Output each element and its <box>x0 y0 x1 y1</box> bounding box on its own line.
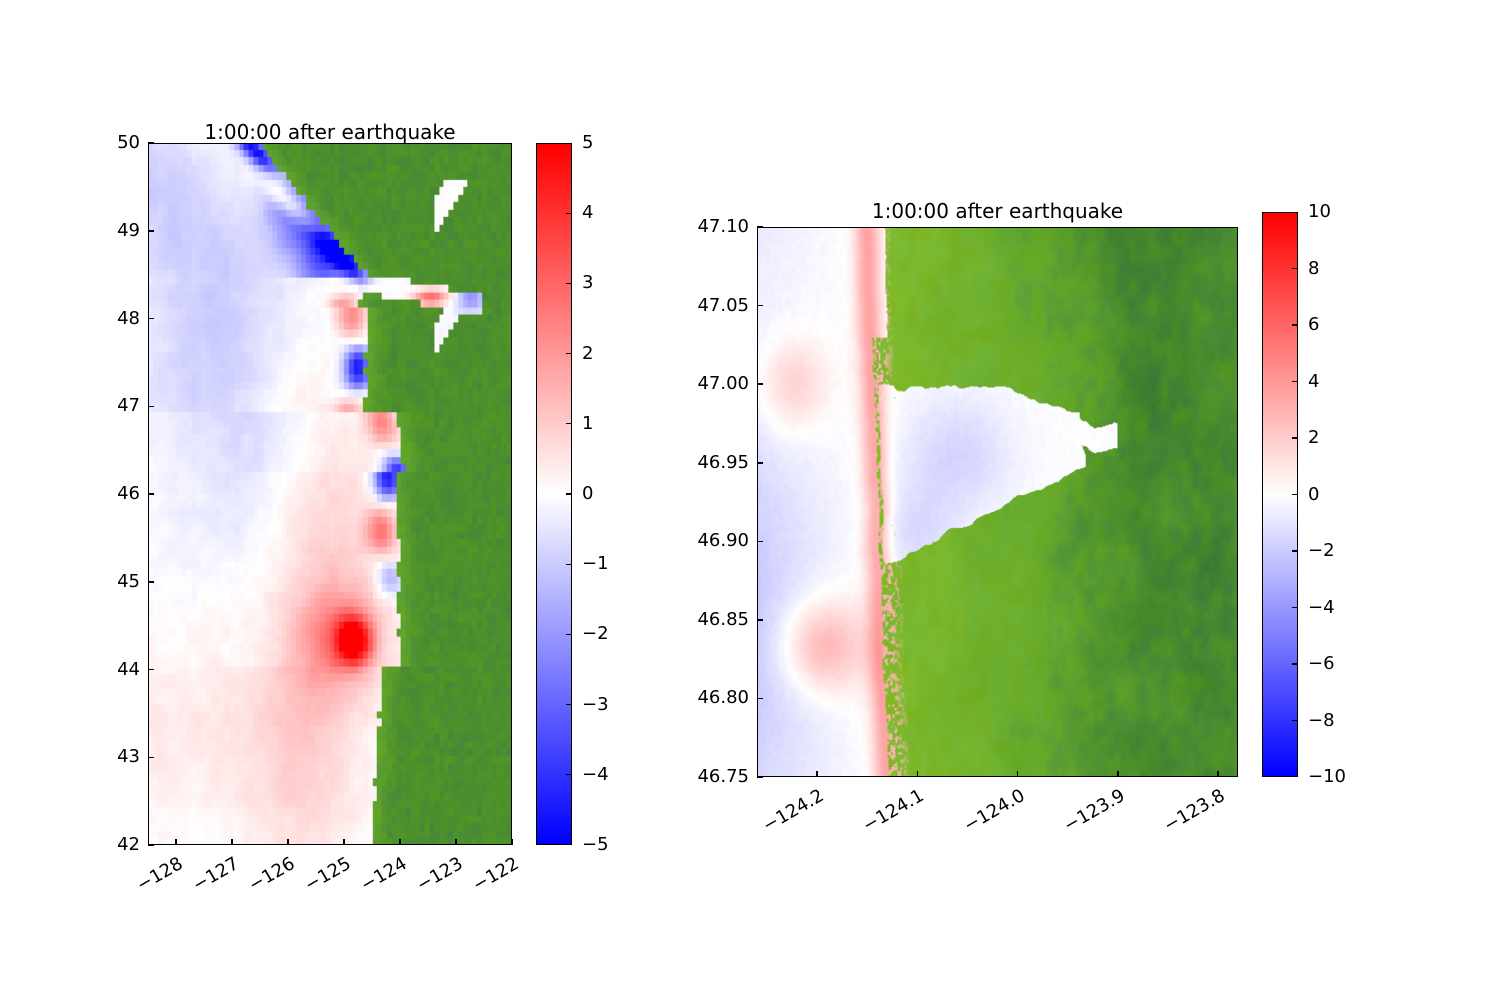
y-tick-mark <box>757 776 763 778</box>
x-tick-label: −123.9 <box>1043 785 1128 846</box>
y-tick-mark <box>148 142 154 144</box>
y-tick-mark <box>148 493 154 495</box>
y-tick-label: 46.75 <box>669 766 749 787</box>
colorbar-tick-mark <box>1292 663 1298 664</box>
colorbar-tick-mark <box>566 564 572 565</box>
colorbar-tick-mark <box>1292 494 1298 495</box>
y-tick-label: 45 <box>60 571 140 592</box>
y-tick-mark <box>757 383 763 385</box>
x-tick-mark <box>231 839 233 845</box>
regional-tsunami-heatmap <box>149 144 511 844</box>
y-tick-label: 47.05 <box>669 295 749 316</box>
x-tick-mark <box>175 839 177 845</box>
x-tick-mark <box>1117 771 1119 777</box>
colorbar-tick-label: 0 <box>582 483 593 504</box>
y-tick-label: 46 <box>60 483 140 504</box>
panel-grays-harbor-axes[interactable] <box>757 227 1238 777</box>
figure-canvas: 1:00:00 after earthquake 504948474645444… <box>0 0 1500 1000</box>
colorbar-tick-label: −3 <box>582 694 609 715</box>
colorbar-tick-mark <box>566 774 572 775</box>
colorbar-tick-label: 4 <box>582 202 593 223</box>
colorbar-tick-mark <box>566 634 572 635</box>
colorbar-tick-mark <box>1292 437 1298 438</box>
y-tick-mark <box>757 619 763 621</box>
y-tick-label: 46.85 <box>669 609 749 630</box>
y-tick-label: 47.10 <box>669 216 749 237</box>
y-tick-mark <box>148 406 154 408</box>
x-tick-mark <box>1017 771 1019 777</box>
colorbar-tick-mark <box>1292 268 1298 269</box>
y-tick-label: 46.80 <box>669 687 749 708</box>
colorbar-tick-label: −6 <box>1308 653 1335 674</box>
colorbar-tick-mark <box>566 493 572 494</box>
x-tick-label: −124.1 <box>843 785 928 846</box>
y-tick-label: 46.95 <box>669 452 749 473</box>
colorbar-tick-label: −1 <box>582 553 609 574</box>
x-tick-mark <box>399 839 401 845</box>
x-tick-mark <box>455 839 457 845</box>
colorbar-tick-label: −2 <box>582 623 609 644</box>
x-tick-mark <box>917 771 919 777</box>
y-tick-label: 48 <box>60 308 140 329</box>
colorbar-tick-label: −8 <box>1308 710 1335 731</box>
y-tick-label: 43 <box>60 746 140 767</box>
y-tick-label: 42 <box>60 834 140 855</box>
colorbar-tick-mark <box>1292 381 1298 382</box>
colorbar-tick-label: −2 <box>1308 540 1335 561</box>
colorbar-tick-label: −4 <box>582 764 609 785</box>
y-tick-mark <box>757 541 763 543</box>
y-tick-mark <box>757 462 763 464</box>
colorbar-tick-label: 3 <box>582 272 593 293</box>
panel-regional-title: 1:00:00 after earthquake <box>148 120 512 144</box>
y-tick-label: 47 <box>60 395 140 416</box>
colorbar-tick-mark <box>1292 550 1298 551</box>
x-tick-mark <box>816 771 818 777</box>
x-tick-mark <box>287 839 289 845</box>
colorbar-tick-mark <box>1292 324 1298 325</box>
x-tick-mark <box>1217 771 1219 777</box>
x-tick-label: −123.8 <box>1143 785 1228 846</box>
grays-harbor-tsunami-heatmap <box>758 228 1237 776</box>
y-tick-label: 50 <box>60 132 140 153</box>
colorbar-tick-label: 8 <box>1308 258 1319 279</box>
colorbar-tick-mark <box>566 213 572 214</box>
colorbar-tick-label: 6 <box>1308 314 1319 335</box>
colorbar-tick-label: 2 <box>1308 427 1319 448</box>
colorbar-tick-label: −4 <box>1308 597 1335 618</box>
y-tick-label: 47.00 <box>669 373 749 394</box>
y-tick-label: 49 <box>60 220 140 241</box>
y-tick-mark <box>757 226 763 228</box>
y-tick-mark <box>148 757 154 759</box>
colorbar-tick-label: 4 <box>1308 371 1319 392</box>
y-tick-mark <box>757 698 763 700</box>
colorbar-tick-label: 5 <box>582 132 593 153</box>
x-tick-mark <box>343 839 345 845</box>
colorbar-tick-mark <box>566 704 572 705</box>
y-tick-label: 44 <box>60 659 140 680</box>
y-tick-mark <box>148 230 154 232</box>
x-tick-label: −124.0 <box>943 785 1028 846</box>
x-tick-mark <box>511 839 513 845</box>
y-tick-mark <box>148 669 154 671</box>
y-tick-label: 46.90 <box>669 530 749 551</box>
colorbar-tick-label: 10 <box>1308 201 1331 222</box>
colorbar-tick-mark <box>566 283 572 284</box>
colorbar-tick-label: 0 <box>1308 484 1319 505</box>
colorbar-tick-mark <box>1292 607 1298 608</box>
colorbar-tick-label: 2 <box>582 343 593 364</box>
colorbar-tick-label: 1 <box>582 413 593 434</box>
y-tick-mark <box>148 581 154 583</box>
y-tick-mark <box>757 305 763 307</box>
panel-regional-axes[interactable] <box>148 143 512 845</box>
x-tick-label: −124.2 <box>743 785 828 846</box>
colorbar-tick-label: −10 <box>1308 766 1346 787</box>
y-tick-mark <box>148 844 154 846</box>
colorbar-tick-mark <box>566 353 572 354</box>
colorbar-tick-mark <box>1292 720 1298 721</box>
colorbar-tick-label: −5 <box>582 834 609 855</box>
y-tick-mark <box>148 318 154 320</box>
panel-grays-harbor-title: 1:00:00 after earthquake <box>757 199 1238 223</box>
colorbar-tick-mark <box>566 423 572 424</box>
